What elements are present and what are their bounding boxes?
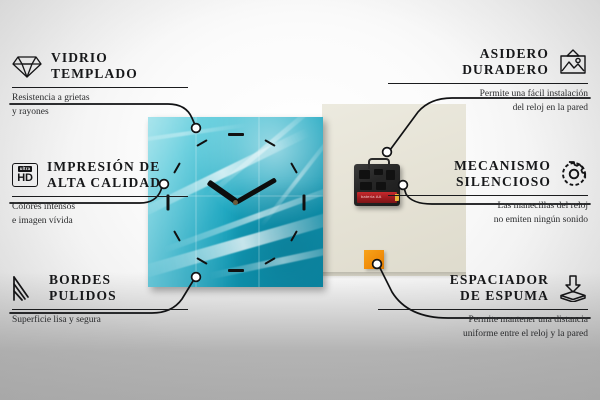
clock-print-seam [258,117,260,287]
feature-impresion-alta-calidad: ultra HD IMPRESIÓN DE ALTA CALIDAD Color… [12,159,202,228]
feature-description: Resistencia a grietas y rayones [12,92,192,119]
feature-mecanismo-silencioso: MECANISMO SILENCIOSO Las manecillas del … [388,158,588,227]
diamond-icon [12,53,42,79]
feature-desc-line1: Resistencia a grietas [12,92,192,105]
feature-title-line1: ASIDERO [462,46,549,62]
feature-rule [12,196,188,197]
feature-rule [12,87,188,88]
feature-desc-line2: y rayones [12,106,192,119]
feature-title-line2: SILENCIOSO [454,174,551,190]
feature-header: ASIDERO DURADERO [388,46,588,78]
ultra-hd-large-text: HD [17,173,33,184]
feature-title-line2: DURADERO [462,62,549,78]
movement-slot [374,169,383,175]
movement-slot [360,182,372,190]
feature-description: Superficie lisa y segura [12,314,192,327]
ultra-hd-small-text: ultra [18,166,33,171]
foam-spacer-icon [558,274,588,302]
feature-desc-line2: uniforme entre el reloj y la pared [378,328,588,341]
clock-hour-tick [228,269,244,272]
movement-hanger [368,158,390,169]
feature-title: ASIDERO DURADERO [462,46,549,78]
clock-hour-tick [291,162,299,173]
polished-edges-icon [12,275,40,301]
feature-espaciador-de-espuma: ESPACIADOR DE ESPUMA Permite mantener un… [378,272,588,341]
feature-desc-line1: Las manecillas del reloj [388,200,588,213]
feature-title: ESPACIADOR DE ESPUMA [450,272,549,304]
clock-hour-tick [302,194,305,210]
feature-header: VIDRIO TEMPLADO [12,50,192,82]
gear-icon [560,160,588,188]
feature-header: ultra HD IMPRESIÓN DE ALTA CALIDAD [12,159,202,191]
feature-asidero-duradero: ASIDERO DURADERO Permite una fácil insta… [388,46,588,115]
feature-desc-line1: Permite mantener una distancia [378,314,588,327]
clock-center-pivot [233,200,238,205]
feature-title-line1: VIDRIO [51,50,138,66]
feature-vidrio-templado: VIDRIO TEMPLADO Resistencia a grietas y … [12,50,192,119]
battery-label: bateria AA [361,194,381,199]
feature-desc-line2: del reloj en la pared [388,102,588,115]
feature-title-line2: ALTA CALIDAD [47,175,161,191]
feature-title: VIDRIO TEMPLADO [51,50,138,82]
feature-description: Colores intensos e imagen vívida [12,201,202,228]
feature-title-line2: PULIDOS [49,288,117,304]
feature-title-line1: ESPACIADOR [450,272,549,288]
feature-desc-line2: no emiten ningún sonido [388,214,588,227]
feature-title: MECANISMO SILENCIOSO [454,158,551,190]
feature-description: Las manecillas del reloj no emiten ningú… [388,200,588,227]
foam-spacer-part [364,250,384,269]
feature-title: BORDES PULIDOS [49,272,117,304]
feature-header: MECANISMO SILENCIOSO [388,158,588,190]
feature-title-line2: TEMPLADO [51,66,138,82]
feature-header: ESPACIADOR DE ESPUMA [378,272,588,304]
feature-desc-line2: e imagen vívida [12,215,202,228]
feature-desc-line1: Colores intensos [12,201,202,214]
movement-slot [376,182,386,190]
feature-title-line1: BORDES [49,272,117,288]
infographic-canvas: bateria AA [0,0,600,400]
feature-desc-line1: Permite una fácil instalación [388,88,588,101]
feature-title-line1: IMPRESIÓN DE [47,159,161,175]
feature-description: Permite una fácil instalación del reloj … [388,88,588,115]
feature-desc-line1: Superficie lisa y segura [12,314,192,327]
feature-rule [378,309,588,310]
feature-rule [12,309,188,310]
ultra-hd-icon: ultra HD [12,163,38,187]
feature-rule [388,195,588,196]
feature-bordes-pulidos: BORDES PULIDOS Superficie lisa y segura [12,272,192,328]
feature-rule [388,83,588,84]
feature-title: IMPRESIÓN DE ALTA CALIDAD [47,159,161,191]
hanging-frame-icon [558,48,588,76]
clock-hour-tick [228,133,244,136]
movement-slot [359,170,370,179]
feature-title-line1: MECANISMO [454,158,551,174]
feature-description: Permite mantener una distancia uniforme … [378,314,588,341]
feature-header: BORDES PULIDOS [12,272,192,304]
feature-title-line2: DE ESPUMA [450,288,549,304]
